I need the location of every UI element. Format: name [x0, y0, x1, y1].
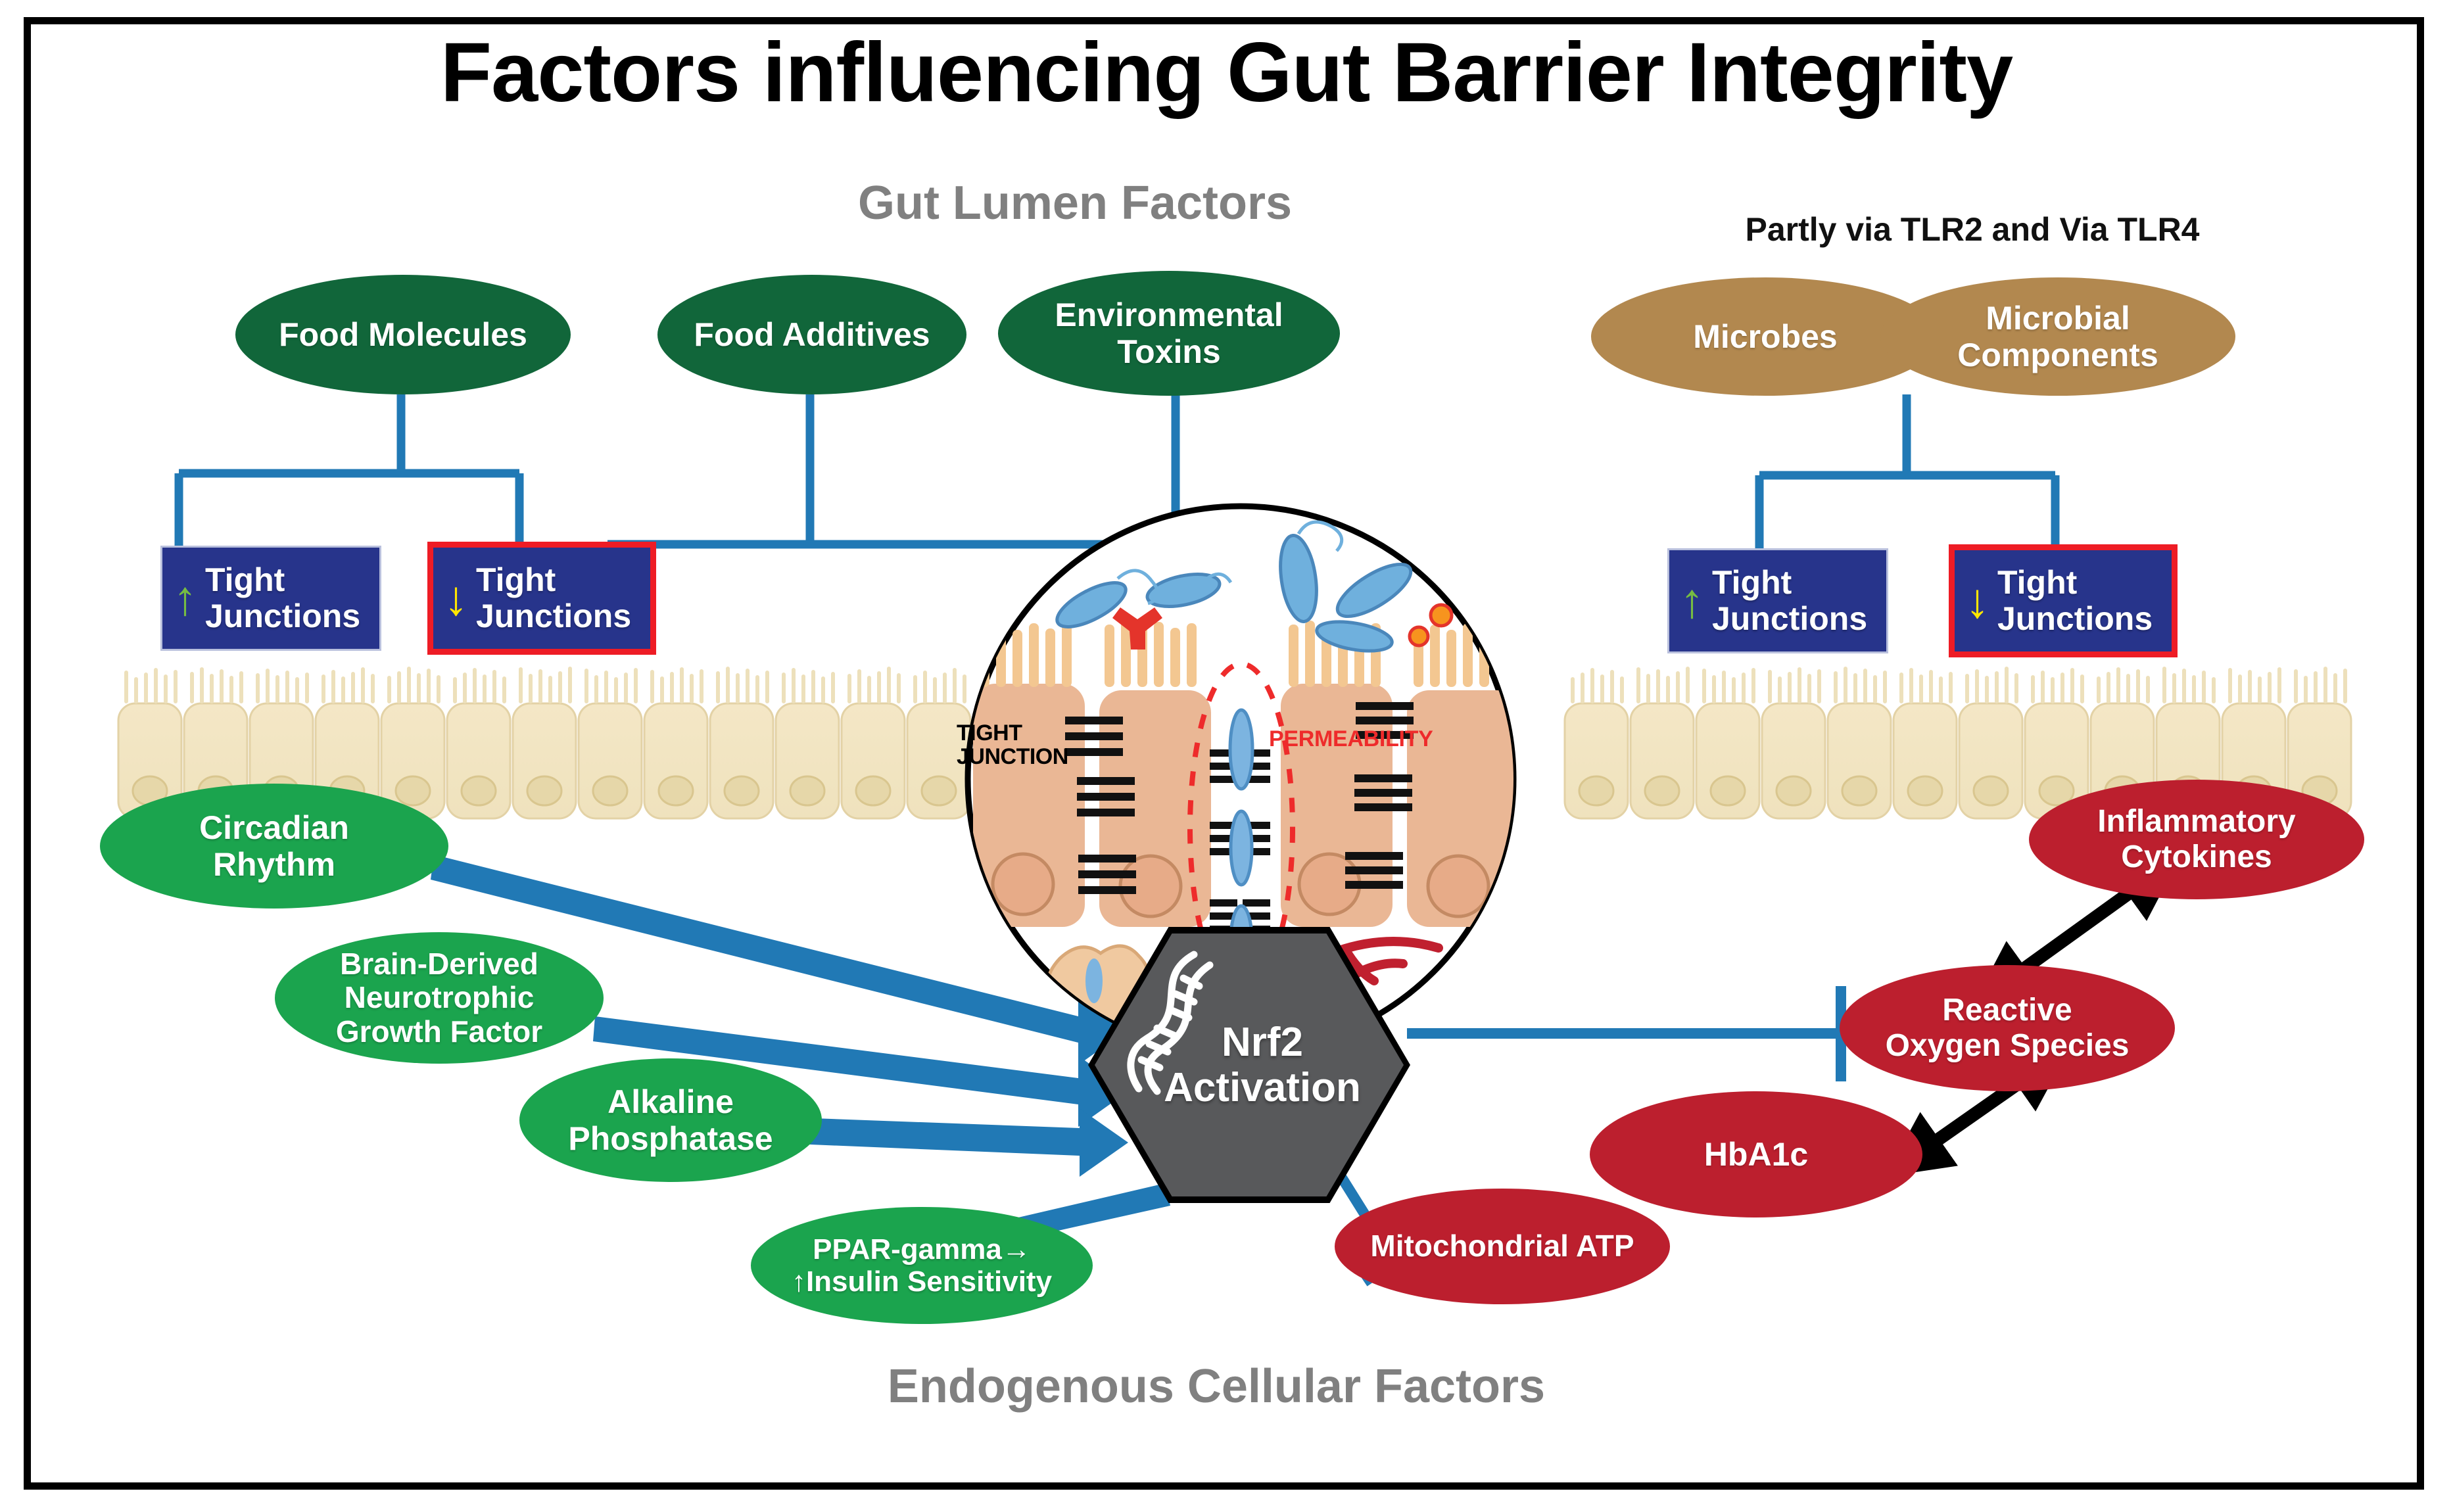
arrow-down-icon: ↓: [1965, 581, 1989, 620]
inset-permeability-label: PERMEABILITY: [1269, 726, 1466, 752]
tight-junction-label: Tight Junctions: [1712, 565, 1867, 637]
node-circadian-rhythm[interactable]: Circadian Rhythm: [100, 784, 448, 909]
arrow-up-icon: ↑: [1680, 581, 1704, 620]
tight-junction-box-right-increase[interactable]: ↑ Tight Junctions: [1667, 548, 1888, 653]
node-hba1c[interactable]: HbA1c: [1590, 1091, 1922, 1217]
node-food-additives[interactable]: Food Additives: [657, 275, 966, 394]
endogenous-section-label: Endogenous Cellular Factors: [690, 1361, 1742, 1413]
tight-junction-label: Tight Junctions: [1997, 565, 2153, 637]
node-microbial-components[interactable]: Microbial Components: [1880, 277, 2235, 396]
arrow-up-icon: ↑: [173, 579, 197, 617]
tight-junction-box-left-decrease[interactable]: ↓ Tight Junctions: [427, 542, 656, 655]
nrf2-hexagon-label: Nrf2 Activation: [1095, 933, 1404, 1196]
node-ppar-gamma-insulin-sensitivity[interactable]: PPAR-gamma→ ↑Insulin Sensitivity: [751, 1207, 1093, 1324]
node-environmental-toxins[interactable]: Environmental Toxins: [998, 271, 1340, 396]
arrow-down-icon: ↓: [444, 579, 468, 617]
tlr-note-label: Partly via TLR2 and Via TLR4: [1631, 210, 2314, 248]
node-inflammatory-cytokines[interactable]: Inflammatory Cytokines: [2029, 780, 2364, 899]
page-title: Factors influencing Gut Barrier Integrit…: [0, 29, 2453, 117]
node-bdnf[interactable]: Brain-Derived Neurotrophic Growth Factor: [275, 932, 604, 1064]
gut-lumen-section-label: Gut Lumen Factors: [664, 177, 1486, 229]
node-alkaline-phosphatase[interactable]: Alkaline Phosphatase: [519, 1058, 822, 1182]
node-mitochondrial-atp[interactable]: Mitochondrial ATP: [1335, 1189, 1670, 1304]
tight-junction-label: Tight Junctions: [476, 562, 631, 634]
inset-tight-junction-label: TIGHT JUNCTION: [957, 722, 1108, 768]
tight-junction-box-left-increase[interactable]: ↑ Tight Junctions: [160, 546, 381, 651]
tight-junction-label: Tight Junctions: [205, 562, 360, 634]
diagram-canvas: Factors influencing Gut Barrier Integrit…: [0, 0, 2453, 1512]
node-reactive-oxygen-species[interactable]: Reactive Oxygen Species: [1840, 965, 2175, 1091]
node-food-molecules[interactable]: Food Molecules: [235, 275, 571, 394]
tight-junction-box-right-decrease[interactable]: ↓ Tight Junctions: [1949, 544, 2178, 657]
